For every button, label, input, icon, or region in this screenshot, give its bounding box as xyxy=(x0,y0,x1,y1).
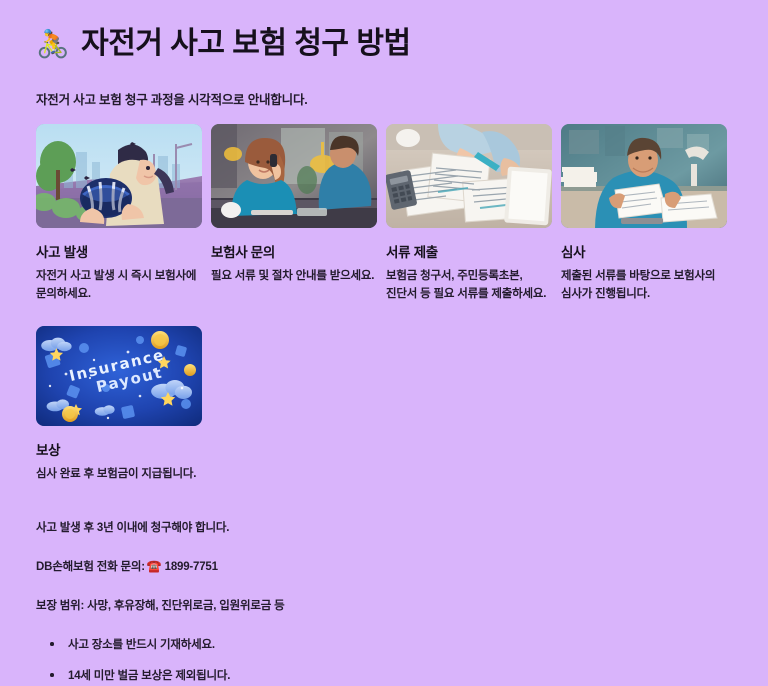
step-card-title: 보험사 문의 xyxy=(211,241,377,261)
step-card-desc: 제출된 서류를 바탕으로 보험사의 심사가 진행됩니다. xyxy=(561,268,743,304)
claim-deadline-note: 사고 발생 후 3년 이내에 청구해야 합니다. xyxy=(36,519,738,535)
page-title-text: 자전거 사고 보험 청구 방법 xyxy=(81,26,410,62)
step-card-desc: 자전거 사고 발생 시 즉시 보험사에 문의하세요. xyxy=(36,268,202,304)
contact-label: DB손해보험 전화 문의: xyxy=(36,561,145,573)
man-reviewing-papers-photo xyxy=(561,124,727,228)
steps-grid: 사고 발생 자전거 사고 발생 시 즉시 보험사에 문의하세요. xyxy=(36,124,742,505)
contact-number[interactable]: 1899-7751 xyxy=(165,561,218,573)
step-card-title: 서류 제출 xyxy=(386,241,552,261)
list-item: 사고 장소를 반드시 기재하세요. xyxy=(36,636,738,652)
step-card-title: 보상 xyxy=(36,439,202,459)
page-subtitle: 자전거 사고 보험 청구 과정을 시각적으로 안내합니다. xyxy=(36,89,738,108)
step-card-desc: 보험금 청구서, 주민등록초본, 진단서 등 필요 서류를 제출하세요. xyxy=(386,268,552,304)
step-card-1: 사고 발생 자전거 사고 발생 시 즉시 보험사에 문의하세요. xyxy=(36,124,202,304)
step-card-4: 심사 제출된 서류를 바탕으로 보험사의 심사가 진행됩니다. xyxy=(561,124,727,304)
step-card-3: 서류 제출 보험금 청구서, 주민등록초본, 진단서 등 필요 서류를 제출하세… xyxy=(386,124,552,304)
step-card-title: 심사 xyxy=(561,241,727,261)
coverage-note: 보장 범위: 사망, 후유장해, 진단위로금, 입원위로금 등 xyxy=(36,597,738,613)
notes-bullet-list: 사고 장소를 반드시 기재하세요. 14세 미만 벌금 보상은 제외됩니다. xyxy=(36,636,738,683)
page-title: 🚴 자전거 사고 보험 청구 방법 xyxy=(36,26,738,62)
step-card-desc: 심사 완료 후 보험금이 지급됩니다. xyxy=(36,466,202,484)
documents-on-desk-photo xyxy=(386,124,552,228)
step-card-title: 사고 발생 xyxy=(36,241,202,261)
woman-on-phone-photo xyxy=(211,124,377,228)
step-card-desc: 필요 서류 및 절차 안내를 받으세요. xyxy=(211,268,377,286)
notes-section: 사고 발생 후 3년 이내에 청구해야 합니다. DB손해보험 전화 문의:☎️… xyxy=(36,519,738,683)
page-root: 🚴 자전거 사고 보험 청구 방법 자전거 사고 보험 청구 과정을 시각적으로… xyxy=(0,0,768,686)
step-card-2: 보험사 문의 필요 서류 및 절차 안내를 받으세요. xyxy=(211,124,377,304)
step-card-5: Insurance Payout 보상 심사 완료 후 보험금이 지급됩니다. xyxy=(36,326,202,484)
insurance-payout-3d-illustration: Insurance Payout xyxy=(36,326,202,426)
contact-note: DB손해보험 전화 문의:☎️1899-7751 xyxy=(36,558,738,574)
cyclist-emoji: 🚴 xyxy=(36,31,69,58)
telephone-icon: ☎️ xyxy=(147,559,162,573)
list-item: 14세 미만 벌금 보상은 제외됩니다. xyxy=(36,667,738,683)
cyclist-with-helmet-illustration xyxy=(36,124,202,228)
